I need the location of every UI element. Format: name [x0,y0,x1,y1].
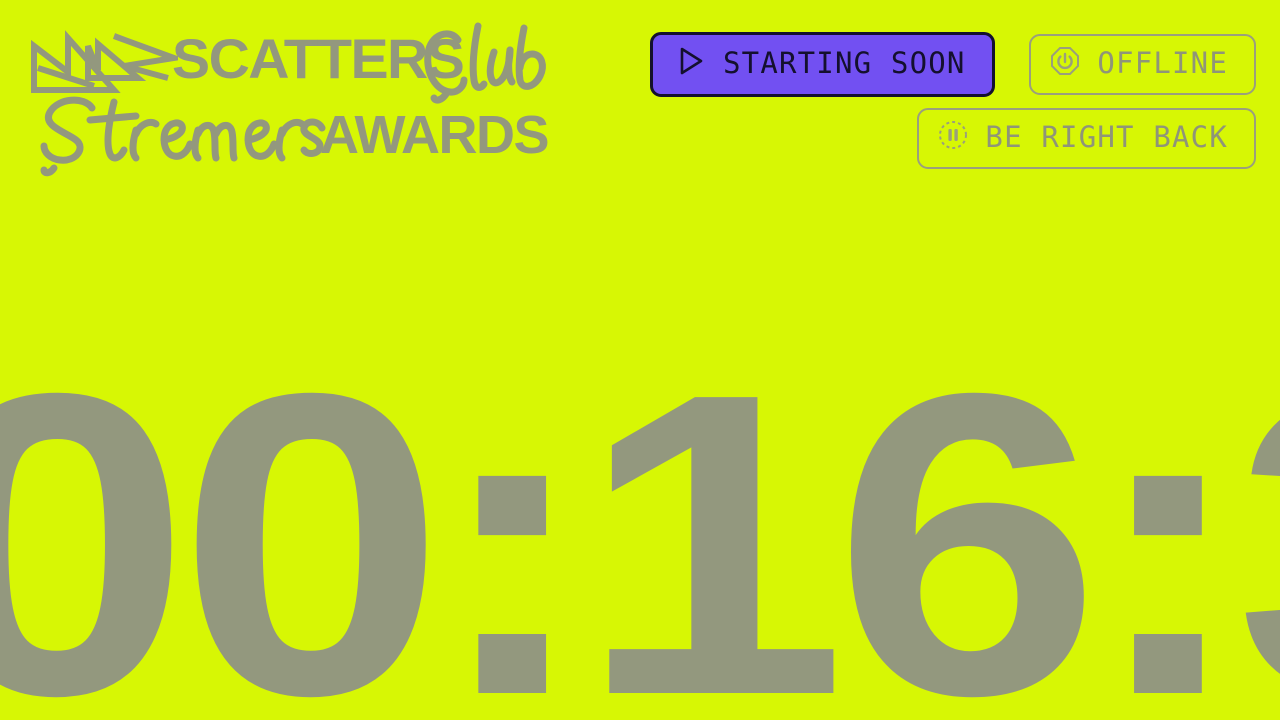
status-button-be-right-back[interactable]: BE RIGHT BACK [917,108,1256,169]
countdown-timer: 00:16:31 [0,330,1280,720]
pause-icon [937,119,969,156]
logo-word-awards: AWARDS [320,104,548,166]
status-button-label: STARTING SOON [723,49,966,78]
status-row-primary: STARTING SOON OFFLINE [650,32,1256,97]
logo-word-club [416,20,556,105]
status-button-starting-soon[interactable]: STARTING SOON [650,32,995,97]
status-row-secondary: BE RIGHT BACK [650,108,1256,169]
status-button-offline[interactable]: OFFLINE [1029,34,1256,95]
play-icon [673,44,707,83]
stream-status-controls: STARTING SOON OFFLINE BE RIGH [650,32,1256,169]
brand-logo: SCATTERS [24,20,544,180]
status-button-label: OFFLINE [1097,49,1228,78]
logo-word-streamers [32,90,332,180]
status-button-label: BE RIGHT BACK [985,123,1228,152]
power-icon [1049,45,1081,82]
